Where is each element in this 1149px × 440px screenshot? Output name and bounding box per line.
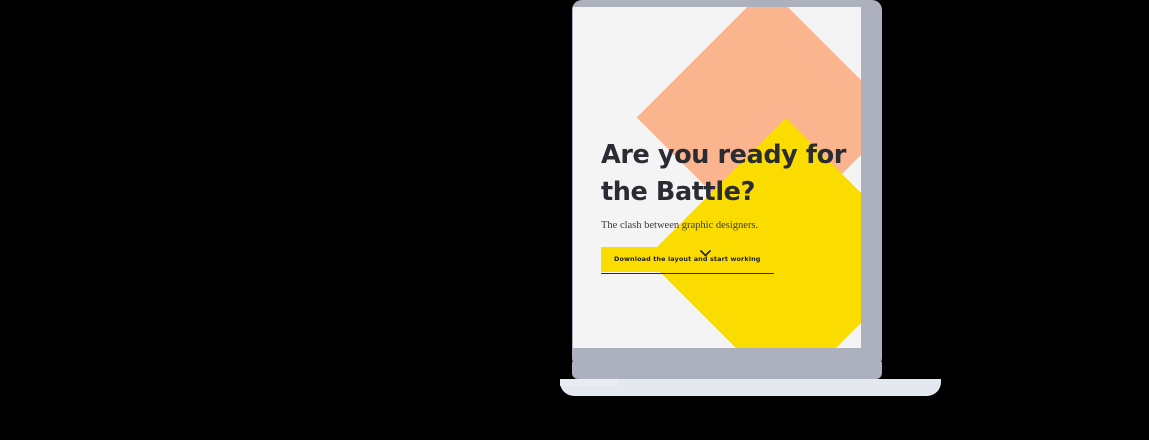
scroll-down-button[interactable] xyxy=(697,245,713,261)
chevron-down-icon xyxy=(700,250,711,257)
cta-underline xyxy=(601,273,774,275)
screenshot-canvas: Are you ready for the Battle? The clash … xyxy=(0,0,1149,440)
hero-section: Are you ready for the Battle? The clash … xyxy=(601,137,853,272)
page-title: Are you ready for the Battle? xyxy=(601,137,853,211)
laptop-base-lip xyxy=(560,379,618,386)
laptop-hinge-bar xyxy=(572,362,882,379)
browser-viewport: Are you ready for the Battle? The clash … xyxy=(573,7,861,348)
download-layout-button[interactable]: Download the layout and start working xyxy=(601,247,774,272)
laptop-mockup: Are you ready for the Battle? The clash … xyxy=(560,0,960,440)
hero-subtitle: The clash between graphic designers. xyxy=(601,219,853,233)
cta-wrapper: Download the layout and start working xyxy=(601,247,774,272)
